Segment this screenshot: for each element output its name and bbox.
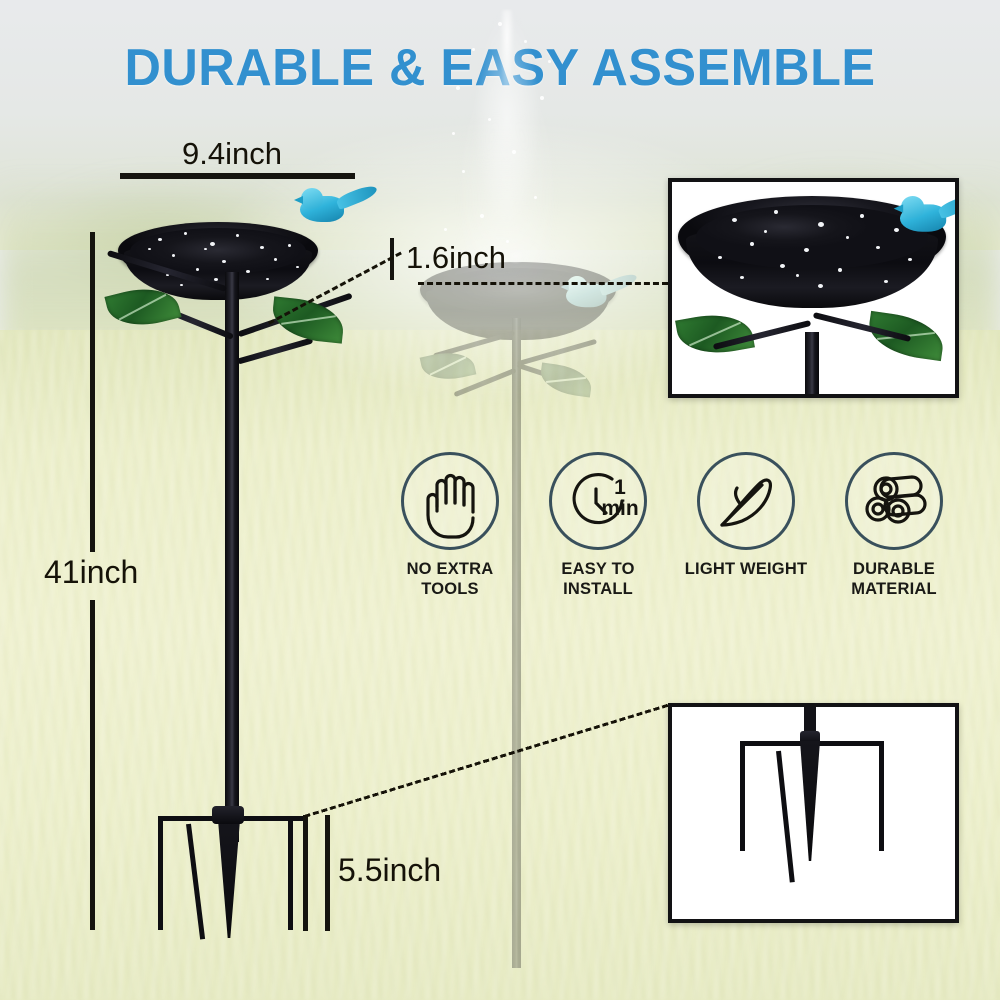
feature-label-2: EASY TO INSTALL <box>533 559 663 599</box>
feature-label-1: NO EXTRA TOOLS <box>385 559 515 599</box>
feature-label-2-line1: EASY TO <box>561 560 634 578</box>
stake-prong-left <box>158 816 163 930</box>
inset-prong-left <box>740 741 745 851</box>
dimension-line-total-height-lower <box>90 600 95 930</box>
feature-circle-1 <box>401 452 499 550</box>
leader-line-bowl-depth-horizontal <box>418 282 668 285</box>
dimension-label-total-height: 41inch <box>44 554 138 591</box>
feature-badges: NO EXTRA TOOLS 1 min EASY TO INSTALL <box>385 452 975 617</box>
feature-easy-to-install[interactable]: 1 min EASY TO INSTALL <box>533 452 663 599</box>
ghost-stem <box>512 318 521 968</box>
feature-circle-4 <box>845 452 943 550</box>
inset-arm-right <box>812 741 884 746</box>
hand-icon <box>404 455 496 547</box>
feature-label-4: DURABLE MATERIAL <box>829 559 959 599</box>
feather-icon <box>700 455 792 547</box>
infographic-canvas: DURABLE & EASY ASSEMBLE <box>0 0 1000 1000</box>
dimension-bar-bowl-diameter <box>120 173 355 179</box>
inset-center-spike <box>800 741 820 861</box>
dimension-line-total-height-upper <box>90 232 95 552</box>
bird-head <box>301 188 323 209</box>
inset-stake-closeup <box>668 703 959 923</box>
feature-label-2-line2: INSTALL <box>563 580 633 598</box>
dimension-line-stake-spread-right <box>325 815 330 931</box>
feature-no-extra-tools[interactable]: NO EXTRA TOOLS <box>385 452 515 599</box>
inset-stem <box>805 332 819 394</box>
feature-label-1-line2: TOOLS <box>421 580 479 598</box>
feature-label-1-line1: NO EXTRA <box>407 560 494 578</box>
product-stem <box>225 272 239 842</box>
feature-light-weight[interactable]: LIGHT WEIGHT <box>681 452 811 579</box>
clock-icon-value: 1 min <box>601 476 638 520</box>
feature-label-4-line2: MATERIAL <box>851 580 937 598</box>
feature-circle-2: 1 min <box>549 452 647 550</box>
dimension-line-stake-spread-left <box>303 815 308 931</box>
inset-prong-front <box>776 751 795 883</box>
feature-label-3: LIGHT WEIGHT <box>681 559 811 579</box>
pipes-icon <box>848 455 940 547</box>
inset-leaf-left <box>675 308 755 360</box>
stake-prong-right <box>288 816 293 930</box>
clock-icon-text: 1 min <box>596 477 644 519</box>
feature-circle-3 <box>697 452 795 550</box>
stake-collar <box>212 806 244 824</box>
feature-label-3-line1: LIGHT WEIGHT <box>685 560 807 578</box>
bird-beak <box>294 196 303 204</box>
feature-label-4-line1: DURABLE <box>853 560 935 578</box>
dimension-label-bowl-depth: 1.6inch <box>406 240 506 276</box>
inset-prong-right <box>879 741 884 851</box>
dimension-label-stake-spread: 5.5inch <box>338 852 441 889</box>
dimension-label-bowl-diameter: 9.4inch <box>182 136 282 172</box>
ghost-fountain-nozzle <box>506 246 526 266</box>
inset-bowl-closeup <box>668 178 959 398</box>
feature-durable-material[interactable]: DURABLE MATERIAL <box>829 452 959 599</box>
product-bowl <box>118 222 318 284</box>
